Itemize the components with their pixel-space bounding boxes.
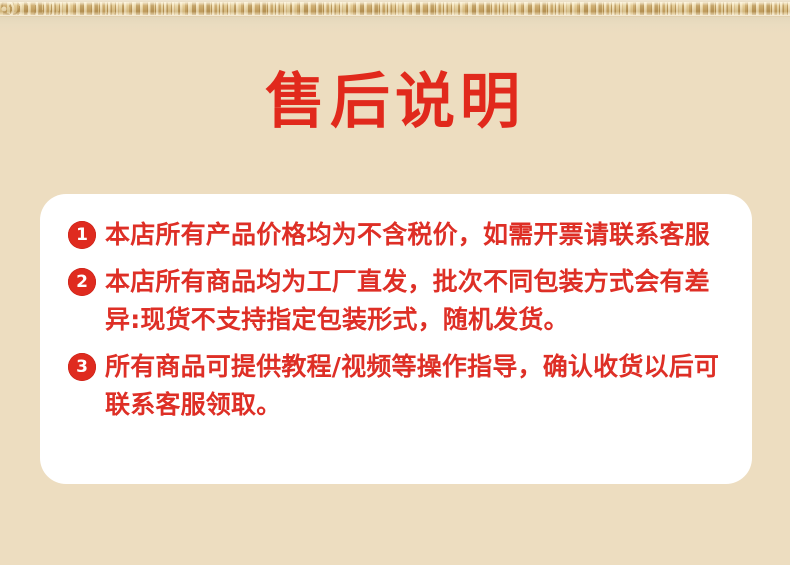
page-title: 售后说明: [0, 72, 790, 132]
after-sales-notes-card: 1 本店所有产品价格均为不含税价，如需开票请联系客服 2 本店所有商品均为工厂直…: [40, 194, 752, 484]
decorative-top-border: [0, 0, 790, 34]
list-item: 1 本店所有产品价格均为不含税价，如需开票请联系客服: [68, 216, 724, 254]
list-number-badge-3: 3: [68, 353, 96, 381]
notes-list: 1 本店所有产品价格均为不含税价，如需开票请联系客服 2 本店所有商品均为工厂直…: [68, 216, 724, 424]
list-number-badge-1: 1: [68, 221, 96, 249]
list-number-badge-2: 2: [68, 268, 96, 296]
list-item-text-2: 本店所有商品均为工厂直发，批次不同包装方式会有差异:现货不支持指定包装形式，随机…: [105, 263, 724, 339]
list-item: 3 所有商品可提供教程/视频等操作指导，确认收货以后可联系客服领取。: [68, 348, 724, 424]
gold-scrollwork-ornament: [0, 2, 790, 15]
border-fade-gradient: [0, 17, 790, 34]
list-item: 2 本店所有商品均为工厂直发，批次不同包装方式会有差异:现货不支持指定包装形式，…: [68, 263, 724, 339]
list-item-text-1: 本店所有产品价格均为不含税价，如需开票请联系客服: [105, 216, 710, 254]
list-item-text-3: 所有商品可提供教程/视频等操作指导，确认收货以后可联系客服领取。: [105, 348, 724, 424]
